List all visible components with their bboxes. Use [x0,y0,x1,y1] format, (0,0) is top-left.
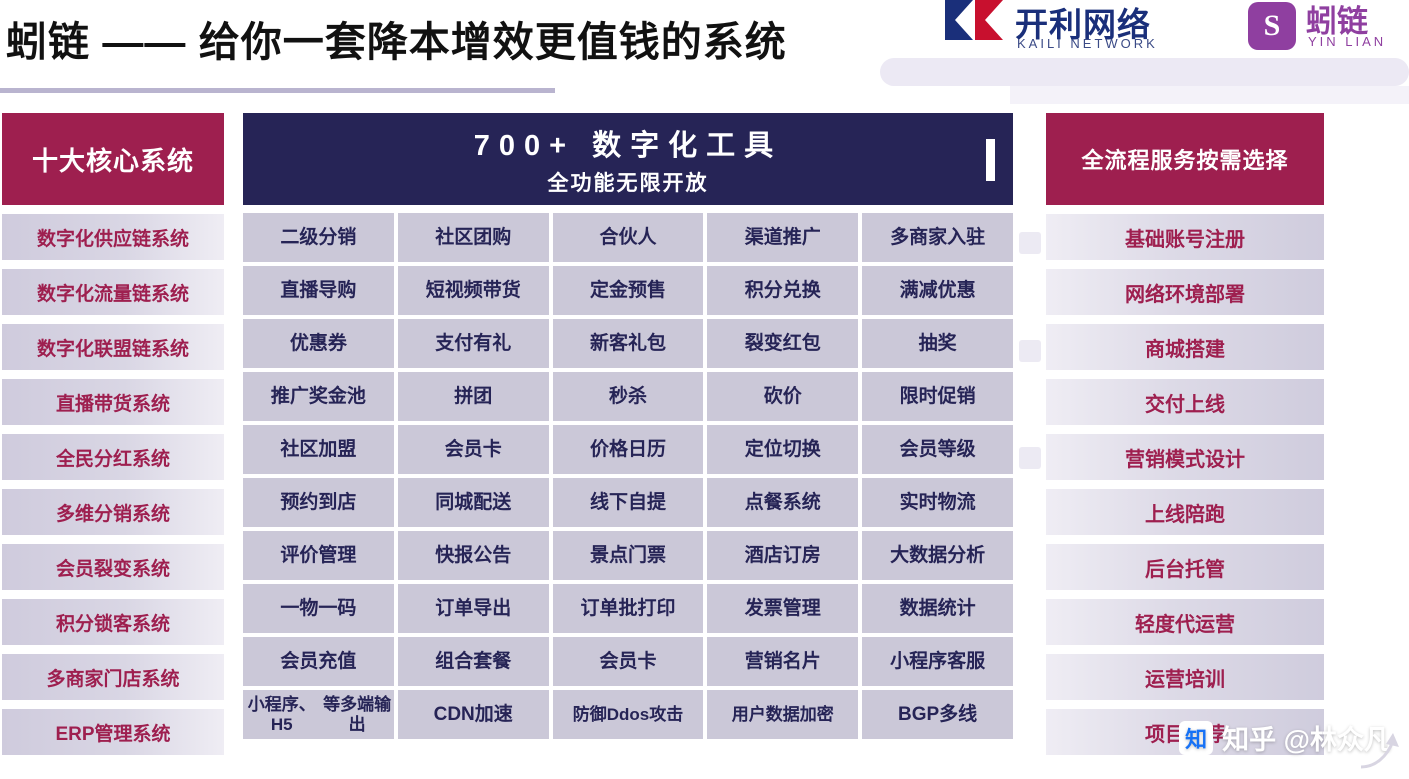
center-panel: 700+ 数字化工具 全功能无限开放 二级分销 社区团购 合伙人 渠道推广 多商… [243,113,1013,739]
tool-cell[interactable]: 订单导出 [398,584,549,633]
right-item-8[interactable]: 运营培训 [1046,654,1324,700]
tool-cell[interactable]: 二级分销 [243,213,394,262]
tool-cell[interactable]: 秒杀 [553,372,704,421]
tool-cell[interactable]: 景点门票 [553,531,704,580]
tool-cell[interactable]: 会员等级 [862,425,1013,474]
tool-cell[interactable]: 合伙人 [553,213,704,262]
corner-arrow-icon [1357,727,1403,773]
page-title: 蚓链 —— 给你一套降本增效更值钱的系统 [6,8,787,68]
tool-cell[interactable]: 渠道推广 [707,213,858,262]
right-item-5[interactable]: 上线陪跑 [1046,489,1324,535]
right-item-7[interactable]: 轻度代运营 [1046,599,1324,645]
tool-cell[interactable]: 拼团 [398,372,549,421]
tool-cell[interactable]: 定位切换 [707,425,858,474]
decor-dot-2 [1019,340,1041,362]
tool-cell[interactable]: 限时促销 [862,372,1013,421]
right-panel-heading: 全流程服务按需选择 [1046,113,1324,205]
header-decor-band [880,58,1409,86]
tool-cell[interactable]: 砍价 [707,372,858,421]
left-panel: 十大核心系统 数字化供应链系统 数字化流量链系统 数字化联盟链系统 直播带货系统… [2,113,224,755]
tool-cell[interactable]: 会员卡 [398,425,549,474]
left-item-9[interactable]: ERP管理系统 [2,709,224,755]
yinlian-logo-mark-char: S [1248,2,1296,50]
tool-cell[interactable]: 积分兑换 [707,266,858,315]
tool-cell[interactable]: 发票管理 [707,584,858,633]
tool-cell[interactable]: 短视频带货 [398,266,549,315]
center-heading-line1: 700+ 数字化工具 [474,122,782,164]
left-item-3[interactable]: 直播带货系统 [2,379,224,425]
tool-cell[interactable]: 营销名片 [707,637,858,686]
tool-cell[interactable]: 同城配送 [398,478,549,527]
left-item-7[interactable]: 积分锁客系统 [2,599,224,645]
decor-dot-1 [1019,232,1041,254]
tool-cell[interactable]: 优惠券 [243,319,394,368]
tool-cell[interactable]: 小程序客服 [862,637,1013,686]
yinlian-logo-icon: S [1248,2,1296,50]
left-item-5[interactable]: 多维分销系统 [2,489,224,535]
tool-cell[interactable]: 小程序、H5等多端输出 [243,690,394,739]
tool-cell[interactable]: 点餐系统 [707,478,858,527]
right-item-0[interactable]: 基础账号注册 [1046,214,1324,260]
left-item-4[interactable]: 全民分红系统 [2,434,224,480]
tool-cell[interactable]: 推广奖金池 [243,372,394,421]
tool-cell[interactable]: 多商家入驻 [862,213,1013,262]
decor-dot-3 [1019,447,1041,469]
right-item-6[interactable]: 后台托管 [1046,544,1324,590]
tool-cell[interactable]: BGP多线 [862,690,1013,739]
left-panel-heading: 十大核心系统 [2,113,224,205]
left-item-8[interactable]: 多商家门店系统 [2,654,224,700]
tool-cell[interactable]: 预约到店 [243,478,394,527]
tool-cell[interactable]: 社区团购 [398,213,549,262]
left-item-1[interactable]: 数字化流量链系统 [2,269,224,315]
header-decor-band-2 [1010,86,1409,104]
tool-cell[interactable]: 快报公告 [398,531,549,580]
tool-cell[interactable]: 支付有礼 [398,319,549,368]
right-item-2[interactable]: 商城搭建 [1046,324,1324,370]
right-item-4[interactable]: 营销模式设计 [1046,434,1324,480]
tool-cell[interactable]: 组合套餐 [398,637,549,686]
left-item-6[interactable]: 会员裂变系统 [2,544,224,590]
yinlian-logo-subtitle: YIN LIAN [1308,34,1386,49]
tool-cell[interactable]: 满减优惠 [862,266,1013,315]
tool-cell[interactable]: 定金预售 [553,266,704,315]
tool-cell[interactable]: 裂变红包 [707,319,858,368]
tool-cell[interactable]: 一物一码 [243,584,394,633]
kaili-logo-subtitle: KAILI NETWORK [1017,36,1158,51]
tool-cell[interactable]: 订单批打印 [553,584,704,633]
tool-cell[interactable]: 会员充值 [243,637,394,686]
tool-cell[interactable]: 防御Ddos攻击 [553,690,704,739]
center-panel-heading: 700+ 数字化工具 全功能无限开放 [243,113,1013,205]
tool-cell[interactable]: 抽奖 [862,319,1013,368]
tool-cell[interactable]: 直播导购 [243,266,394,315]
center-heading-bar [986,139,995,181]
left-item-0[interactable]: 数字化供应链系统 [2,214,224,260]
zhihu-logo-icon: 知 [1179,721,1213,755]
right-item-3[interactable]: 交付上线 [1046,379,1324,425]
kaili-network-logo: 开利网络 KAILI NETWORK [945,0,1200,56]
center-heading-line2: 全功能无限开放 [548,167,709,197]
tool-cell[interactable]: 价格日历 [553,425,704,474]
tool-cell[interactable]: 实时物流 [862,478,1013,527]
left-item-2[interactable]: 数字化联盟链系统 [2,324,224,370]
yinlian-logo: S 蚓链 YIN LIAN [1248,0,1409,58]
header-rule [0,88,555,93]
right-item-1[interactable]: 网络环境部署 [1046,269,1324,315]
kaili-logo-icon [945,0,1007,40]
tool-cell[interactable]: 社区加盟 [243,425,394,474]
tool-cell[interactable]: 酒店订房 [707,531,858,580]
tool-cell[interactable]: 线下自提 [553,478,704,527]
tool-cell[interactable]: CDN加速 [398,690,549,739]
tool-cell[interactable]: 用户数据加密 [707,690,858,739]
right-panel: 全流程服务按需选择 基础账号注册 网络环境部署 商城搭建 交付上线 营销模式设计… [1046,113,1324,755]
tool-cell[interactable]: 会员卡 [553,637,704,686]
tool-cell[interactable]: 大数据分析 [862,531,1013,580]
tool-cell[interactable]: 数据统计 [862,584,1013,633]
tool-cell[interactable]: 新客礼包 [553,319,704,368]
tool-grid: 二级分销 社区团购 合伙人 渠道推广 多商家入驻 直播导购 短视频带货 定金预售… [243,213,1013,739]
tool-cell[interactable]: 评价管理 [243,531,394,580]
